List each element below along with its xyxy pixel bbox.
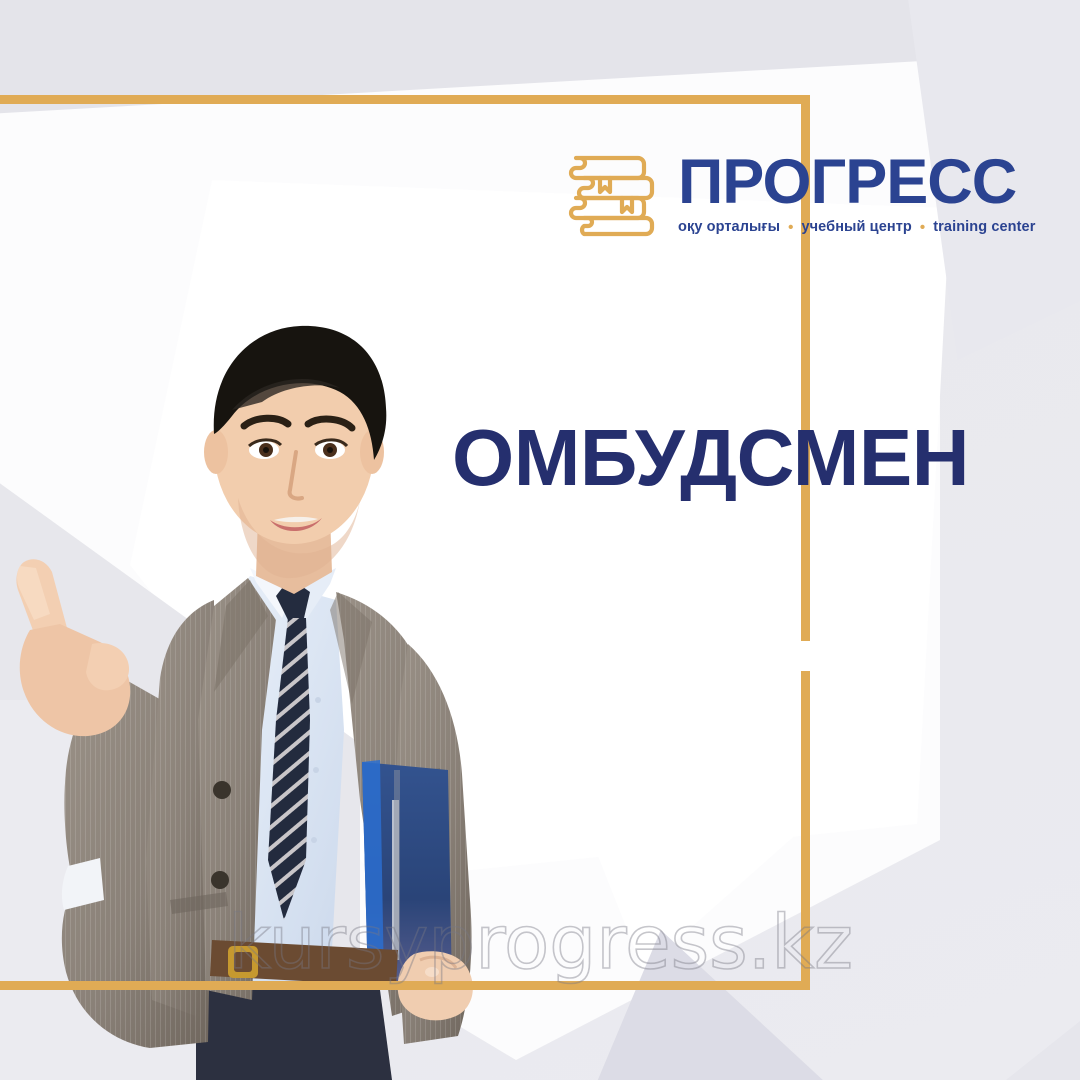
- tagline-russian: учебный центр: [801, 219, 911, 235]
- tagline-kazakh: оқу орталығы: [678, 219, 780, 235]
- jacket-button: [211, 871, 229, 889]
- shirt-button: [313, 767, 319, 773]
- page-title: ОМБУДСМЕН: [452, 412, 969, 504]
- frame-line-bottom: [0, 981, 810, 990]
- brand-logo[interactable]: ПРОГРЕСС оқу орталығы • учебный центр • …: [566, 148, 1035, 240]
- ear-left: [204, 430, 228, 474]
- frame-line-right-lower: [801, 671, 810, 990]
- brand-name: ПРОГРЕСС: [678, 153, 1016, 213]
- logo-text-block: ПРОГРЕСС оқу орталығы • учебный центр • …: [678, 153, 1035, 236]
- trousers: [196, 990, 392, 1080]
- poster-canvas: ПРОГРЕСС оқу орталығы • учебный центр • …: [0, 0, 1080, 1080]
- brand-tagline: оқу орталығы • учебный центр • training …: [678, 219, 1035, 235]
- tagline-separator-icon: •: [788, 220, 793, 235]
- jacket-button: [213, 781, 231, 799]
- stacked-books-icon: [566, 148, 662, 240]
- tagline-english: training center: [933, 219, 1035, 235]
- frame-line-top: [0, 95, 810, 104]
- pointing-hand: [16, 559, 130, 736]
- tagline-separator-icon: •: [920, 220, 925, 235]
- shirt-button: [315, 697, 321, 703]
- shirt-button: [311, 837, 317, 843]
